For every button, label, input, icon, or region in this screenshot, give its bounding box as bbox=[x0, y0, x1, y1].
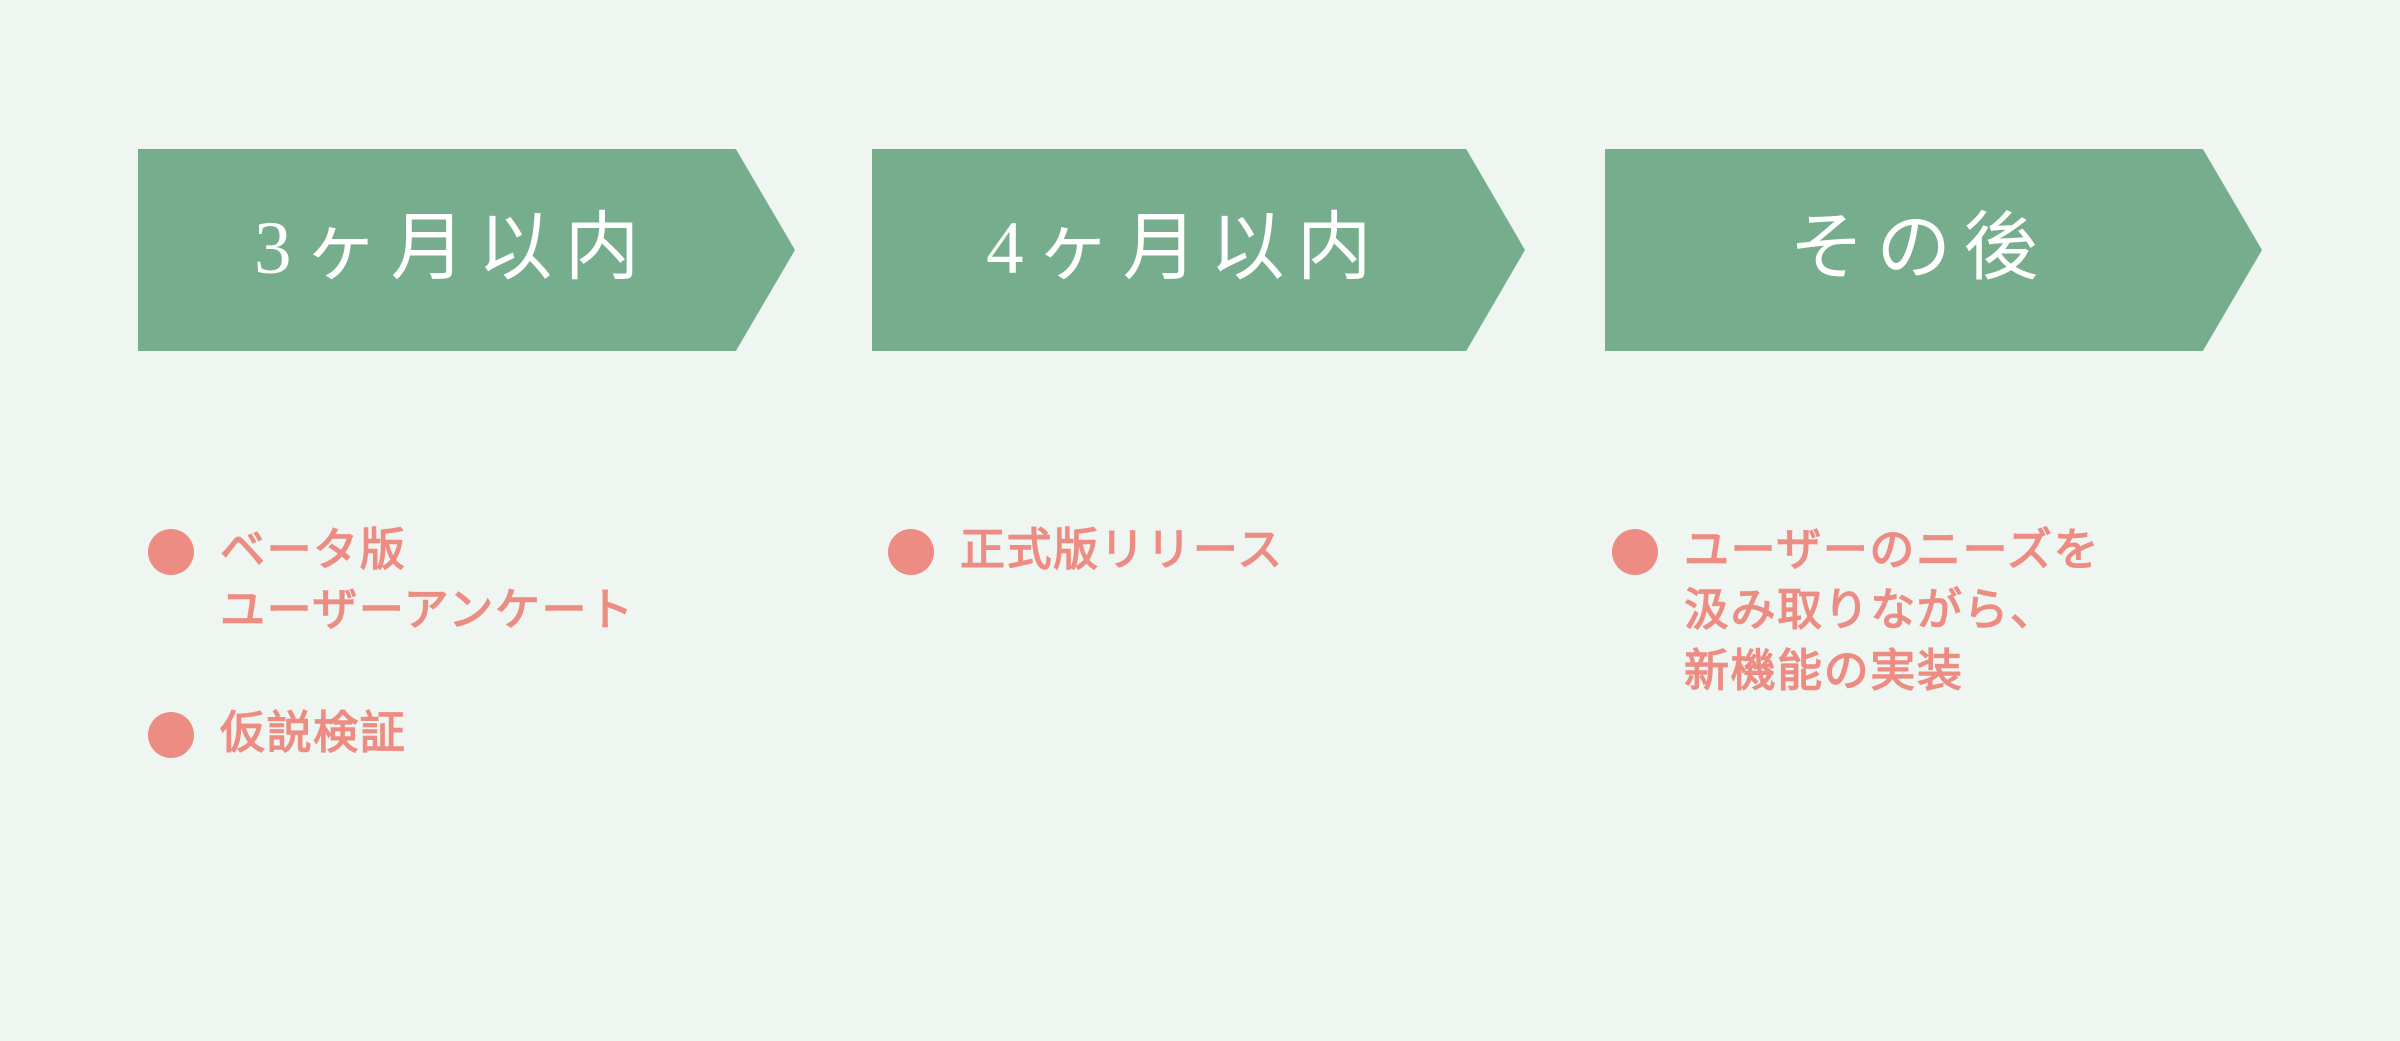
list-item-label: ベータ版 ユーザーアンケート bbox=[220, 520, 635, 641]
list-item-label: ユーザーのニーズを 汲み取りながら、 新機能の実装 bbox=[1684, 520, 2100, 701]
phase-arrow-band: 3ヶ月以内 4ヶ月以内 その後 bbox=[0, 149, 2400, 351]
phase-detail-columns: ベータ版 ユーザーアンケート 仮説検証 正式版リリース ユーザーのニーズを 汲み… bbox=[0, 520, 2400, 940]
bullet-dot-icon bbox=[148, 529, 194, 575]
phase-arrow-1-label: 3ヶ月以内 bbox=[242, 211, 652, 286]
phase-column-1: ベータ版 ユーザーアンケート 仮説検証 bbox=[148, 520, 808, 825]
roadmap-diagram: 3ヶ月以内 4ヶ月以内 その後 ベータ版 ユーザーアンケート 仮説検証 正式版リ… bbox=[0, 0, 2400, 1041]
list-item[interactable]: 仮説検証 bbox=[148, 703, 808, 763]
phase-column-2: 正式版リリース bbox=[888, 520, 1528, 642]
list-item[interactable]: ユーザーのニーズを 汲み取りながら、 新機能の実装 bbox=[1612, 520, 2312, 701]
list-item[interactable]: 正式版リリース bbox=[888, 520, 1528, 580]
phase-arrow-2-label: 4ヶ月以内 bbox=[974, 211, 1384, 286]
phase-arrow-2[interactable]: 4ヶ月以内 bbox=[872, 149, 1525, 351]
phase-column-3: ユーザーのニーズを 汲み取りながら、 新機能の実装 bbox=[1612, 520, 2312, 763]
phase-arrow-1[interactable]: 3ヶ月以内 bbox=[138, 149, 795, 351]
list-item-label: 正式版リリース bbox=[960, 520, 1284, 580]
list-item-label: 仮説検証 bbox=[220, 703, 406, 763]
bullet-dot-icon bbox=[888, 529, 934, 575]
bullet-dot-icon bbox=[148, 712, 194, 758]
phase-arrow-3[interactable]: その後 bbox=[1605, 149, 2262, 351]
phase-arrow-3-label: その後 bbox=[1777, 211, 2050, 286]
list-item[interactable]: ベータ版 ユーザーアンケート bbox=[148, 520, 808, 641]
bullet-dot-icon bbox=[1612, 529, 1658, 575]
